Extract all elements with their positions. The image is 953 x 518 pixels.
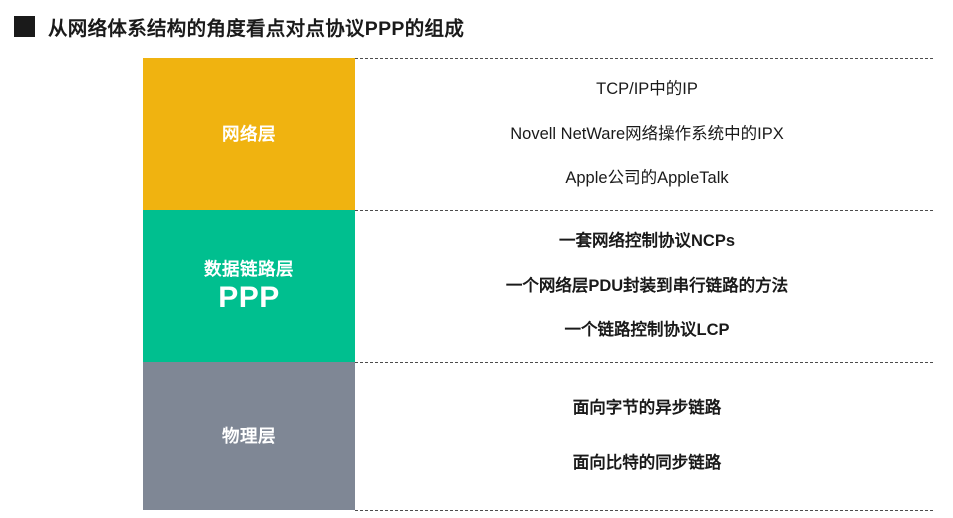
layer-details-datalink: 一套网络控制协议NCPs 一个网络层PDU封装到串行链路的方法 一个链路控制协议… [355, 210, 933, 362]
layer-row-network: 网络层 TCP/IP中的IP Novell NetWare网络操作系统中的IPX… [143, 58, 933, 210]
layer-sublabel-ppp: PPP [218, 282, 280, 314]
separator-line-network-datalink [355, 210, 933, 211]
layer-box-network: 网络层 [143, 58, 355, 210]
detail-line: Novell NetWare网络操作系统中的IPX [510, 124, 784, 145]
layer-row-datalink: 数据链路层 PPP 一套网络控制协议NCPs 一个网络层PDU封装到串行链路的方… [143, 210, 933, 362]
detail-line: 面向比特的同步链路 [573, 453, 722, 474]
detail-line: 一套网络控制协议NCPs [559, 231, 735, 252]
detail-line: TCP/IP中的IP [596, 79, 698, 100]
layer-name-physical: 物理层 [222, 426, 276, 447]
layer-box-datalink: 数据链路层 PPP [143, 210, 355, 362]
separator-line-bottom [355, 510, 933, 511]
detail-line: Apple公司的AppleTalk [565, 168, 728, 189]
separator-line-top [355, 58, 933, 59]
layer-box-physical: 物理层 [143, 362, 355, 510]
ppp-architecture-diagram: 网络层 TCP/IP中的IP Novell NetWare网络操作系统中的IPX… [143, 58, 933, 510]
layer-row-physical: 物理层 面向字节的异步链路 面向比特的同步链路 [143, 362, 933, 510]
detail-line: 面向字节的异步链路 [573, 398, 722, 419]
detail-line: 一个网络层PDU封装到串行链路的方法 [506, 276, 788, 297]
layer-name-datalink: 数据链路层 [204, 259, 294, 280]
separator-line-datalink-physical [355, 362, 933, 363]
page-title: 从网络体系结构的角度看点对点协议PPP的组成 [14, 12, 464, 41]
bullet-square-icon [14, 16, 35, 37]
layer-name-network: 网络层 [222, 124, 276, 145]
layer-details-physical: 面向字节的异步链路 面向比特的同步链路 [355, 362, 933, 510]
page-title-text: 从网络体系结构的角度看点对点协议PPP的组成 [48, 12, 464, 41]
layer-details-network: TCP/IP中的IP Novell NetWare网络操作系统中的IPX App… [355, 58, 933, 210]
detail-line: 一个链路控制协议LCP [565, 320, 730, 341]
